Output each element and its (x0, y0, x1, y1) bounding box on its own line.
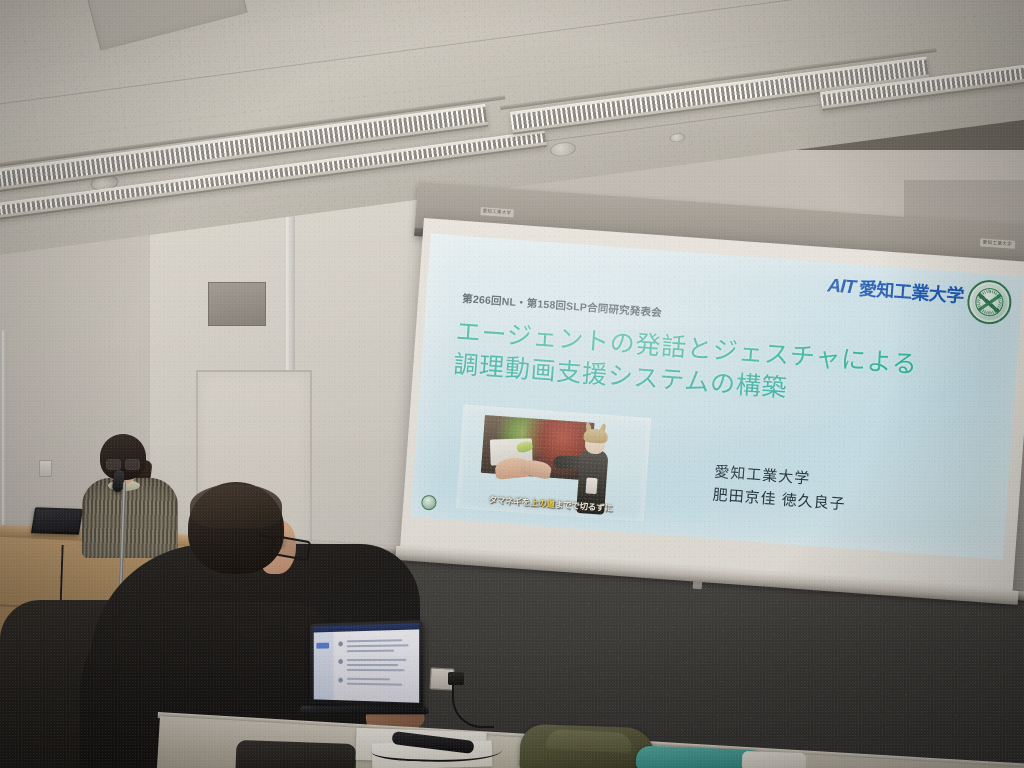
video-thumbnail-panel: タマネギを上の道までで切るずに (456, 404, 651, 521)
ait-logo: AIT 愛知工業大学 (827, 276, 965, 305)
light-switch[interactable] (39, 460, 52, 477)
laptop-message-avatar (338, 659, 343, 664)
presentation-room-photo: 愛知工業大学 愛知工業大学 AIT 愛知工業大学 第266回NL・第158回SL… (0, 0, 1024, 768)
presenter-glasses (106, 459, 140, 468)
housing-label: 愛知工業大学 (979, 238, 1015, 249)
subtitle-part-1: タマネギを (488, 494, 530, 507)
laptop-sidebar (314, 632, 334, 703)
ait-mark-text: AIT (827, 276, 856, 297)
avatar-collar (585, 477, 597, 494)
chair-back (236, 740, 357, 768)
laptop-text-line (347, 639, 403, 642)
laptop-text-line (347, 683, 403, 686)
laptop-message-avatar (338, 641, 343, 646)
laptop-sidebar-item (316, 643, 329, 649)
slide-title: エージェントの発話とジェスチャによる 調理動画支援システムの構築 (452, 316, 995, 421)
podium-laptop-screen (33, 509, 80, 531)
laptop-lid (310, 620, 423, 708)
wall-vent (208, 282, 266, 326)
conference-name: 第266回NL・第158回SLP合同研究発表会 (462, 291, 663, 320)
author-block: 愛知工業大学 肥田京佳 徳久良子 (712, 461, 848, 517)
podium-laptop[interactable] (31, 507, 83, 535)
laptop-text-line (347, 669, 405, 671)
university-seal-icon (966, 279, 1013, 326)
laptop-text-line (347, 678, 390, 681)
laptop-text-line (347, 664, 398, 666)
laptop-text-line (347, 650, 394, 653)
ait-university-name: 愛知工業大学 (858, 279, 964, 305)
seal-ring-text (973, 286, 1005, 318)
laptop-message-avatar (338, 678, 343, 683)
attendee-laptop[interactable] (300, 622, 428, 734)
subtitle-highlight: 上の道 (530, 497, 556, 509)
seal-inner-mark (974, 287, 1004, 317)
laptop-text-line (347, 644, 409, 647)
laptop-screen (314, 623, 419, 703)
avatar-arm (554, 456, 582, 470)
white-object (742, 751, 807, 768)
attendee-hair (190, 484, 282, 528)
laptop-text-line (347, 659, 407, 661)
projector-screen: 愛知工業大学 AIT 愛知工業大学 第266回NL・第158回SLP合同研究発表… (400, 218, 1024, 592)
slide-footer-logo-icon (421, 495, 437, 511)
presentation-slide: AIT 愛知工業大学 第266回NL・第158回SLP合同研究発表会 エージェン… (410, 234, 1023, 560)
